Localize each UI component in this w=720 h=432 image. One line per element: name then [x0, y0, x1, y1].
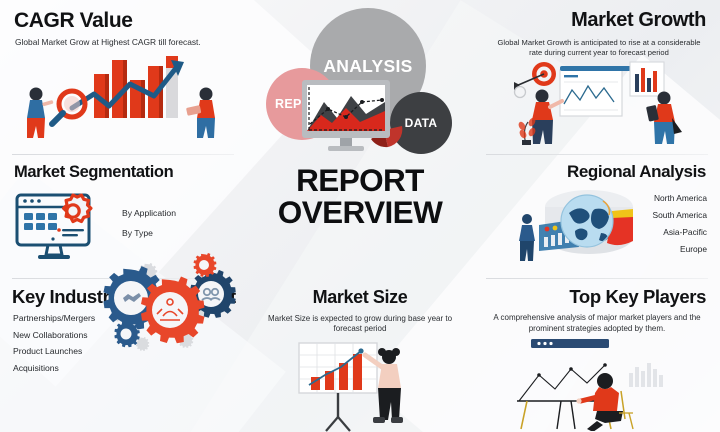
panel-regional-analysis: Regional Analysis [472, 152, 720, 274]
monitor-chart-illustration [300, 78, 404, 160]
cagr-subtitle: Global Market Grow at Highest CAGR till … [15, 37, 248, 48]
circle-analysis-label: ANALYSIS [323, 56, 412, 77]
hero-title-line2: OVERVIEW [248, 196, 472, 228]
regional-analysis-title: Regional Analysis [472, 163, 706, 181]
circle-data-label: DATA [405, 116, 438, 130]
panel-grid: CAGR Value Global Market Grow at Highest… [0, 0, 720, 432]
cagr-illustration [8, 50, 238, 142]
panel-report-overview-hero: ANALYSIS REPORT DATA [248, 0, 472, 276]
market-size-illustration [285, 341, 435, 432]
gears-illustration [85, 250, 245, 354]
market-size-title: Market Size [248, 288, 472, 307]
hero-title: REPORT OVERVIEW [248, 164, 472, 228]
panel-market-size: Market Size Market Size is expected to g… [248, 276, 472, 432]
top-key-players-title: Top Key Players [472, 287, 706, 306]
list-item: South America [653, 209, 707, 222]
top-key-players-illustration [501, 339, 691, 431]
market-segmentation-list: By Application By Type [122, 207, 176, 247]
key-industry-development-body: Partnerships/Mergers New Collaborations … [0, 312, 248, 374]
infographic-root: CAGR Value Global Market Grow at Highest… [0, 0, 720, 432]
hero-artwork: ANALYSIS REPORT DATA [248, 0, 472, 168]
list-item: Acquisitions [13, 362, 248, 375]
globe-illustration [517, 185, 653, 267]
list-item: North America [653, 192, 707, 205]
regional-analysis-list: North America South America Asia-Pacific… [653, 192, 707, 260]
hero-title-line1: REPORT [248, 164, 472, 196]
list-item: Europe [653, 243, 707, 256]
cagr-title: CAGR Value [14, 10, 248, 32]
list-item: Asia-Pacific [653, 226, 707, 239]
top-key-players-subtitle: A comprehensive analysis of major market… [486, 313, 708, 334]
list-item: By Application [122, 207, 176, 220]
panel-cagr-value: CAGR Value Global Market Grow at Highest… [0, 0, 248, 150]
market-growth-illustration [504, 60, 704, 146]
market-growth-title: Market Growth [472, 10, 706, 31]
list-item: By Type [122, 227, 176, 240]
panel-key-industry-development: Key Industry Development Partnerships/Me… [0, 276, 248, 432]
market-segmentation-title: Market Segmentation [14, 164, 248, 181]
panel-top-key-players: Top Key Players A comprehensive analysis… [472, 276, 720, 432]
market-growth-subtitle: Global Market Growth is anticipated to r… [490, 38, 708, 58]
panel-market-growth: Market Growth Global Market Growth is an… [472, 0, 720, 150]
regional-analysis-body: North America South America Asia-Pacific… [472, 185, 720, 267]
market-size-subtitle: Market Size is expected to grow during b… [266, 314, 454, 335]
